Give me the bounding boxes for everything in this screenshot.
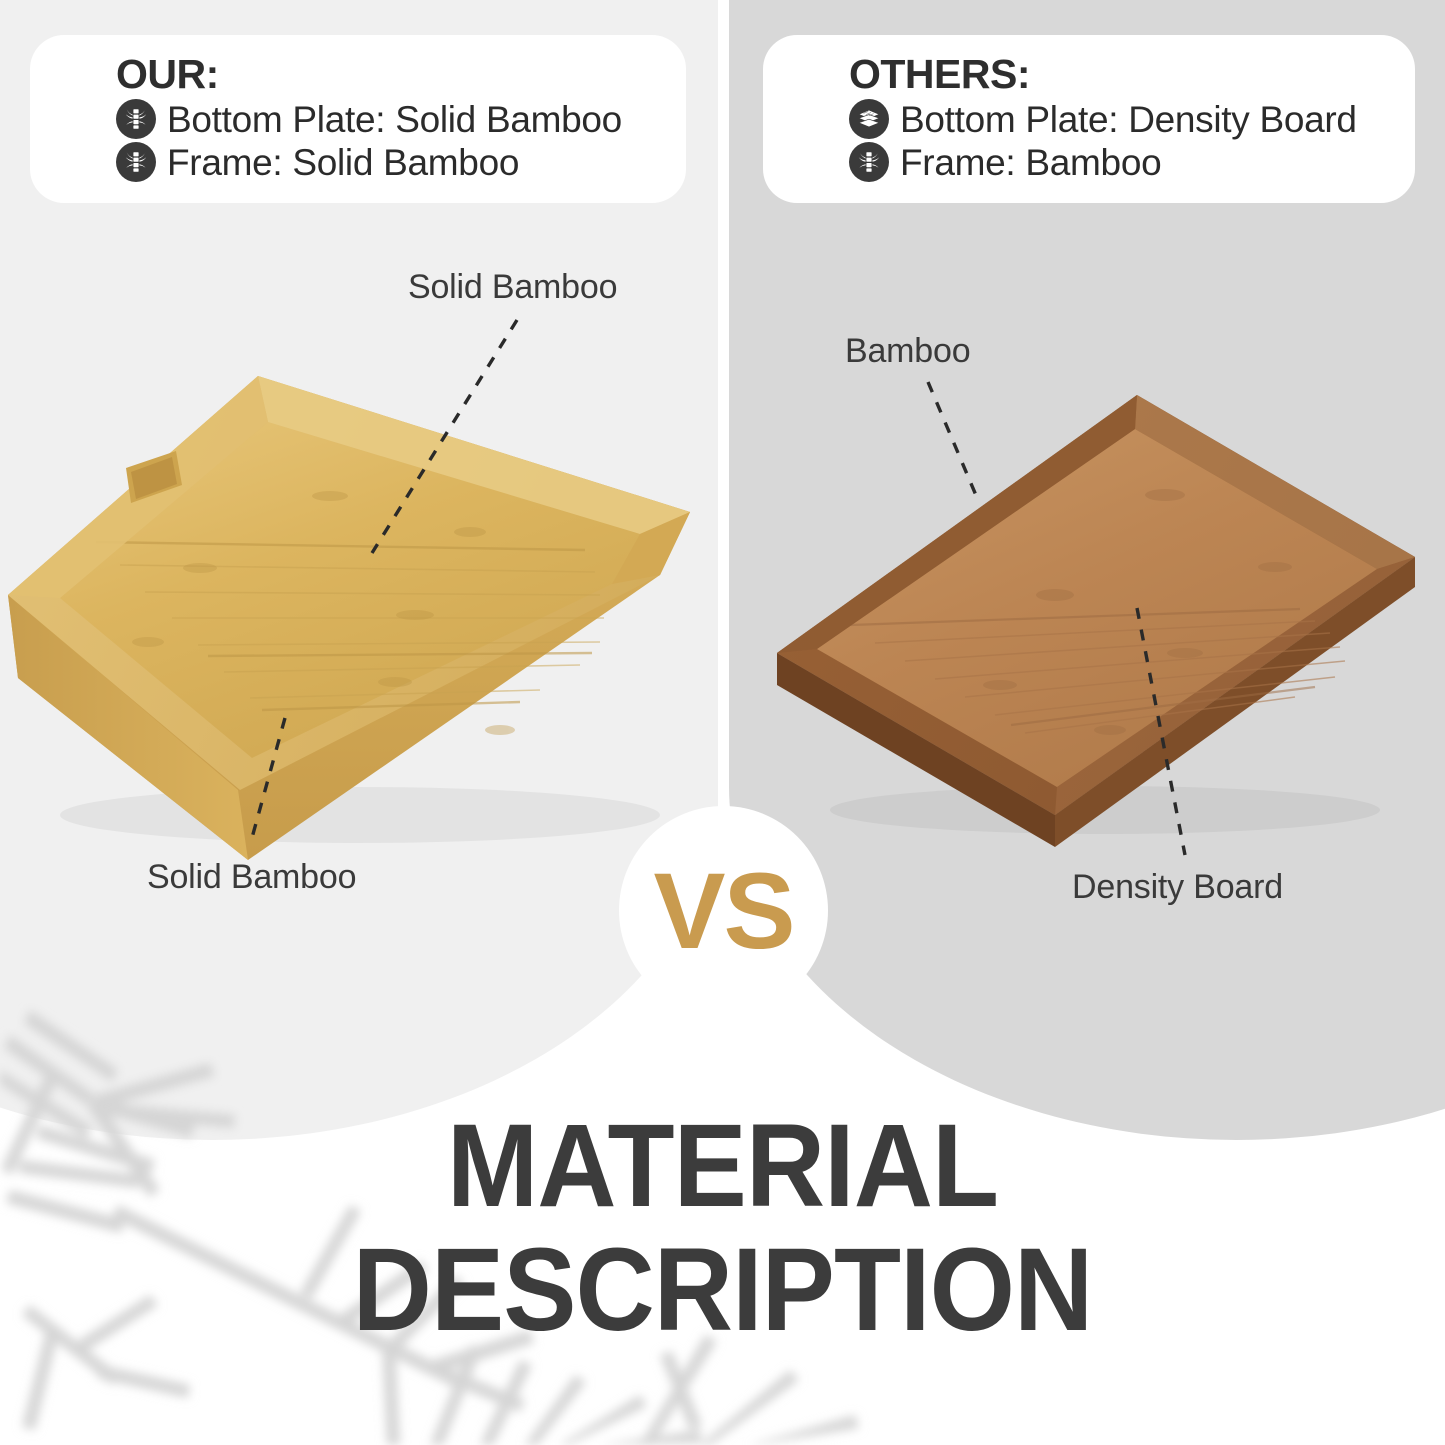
spec-card-ours: OUR: — [30, 35, 686, 203]
spec-row-others-bottom-plate: Bottom Plate: Density Board — [849, 99, 1385, 139]
spec-row-ours-bottom-plate-label: Bottom Plate: Solid Bamboo — [167, 101, 622, 138]
bamboo-icon — [849, 142, 889, 182]
page-title: MATERIAL DESCRIPTION — [0, 1105, 1445, 1353]
spec-card-ours-heading: OUR: — [116, 53, 656, 96]
callout-others-frame: Bamboo — [845, 332, 970, 371]
layers-stack-icon — [849, 99, 889, 139]
spec-row-ours-frame-label: Frame: Solid Bamboo — [167, 144, 519, 181]
bamboo-icon — [116, 142, 156, 182]
spec-row-others-bottom-plate-label: Bottom Plate: Density Board — [900, 101, 1357, 138]
spec-row-others-frame: Frame: Bamboo — [849, 142, 1385, 182]
spec-row-ours-bottom-plate: Bottom Plate: Solid Bamboo — [116, 99, 656, 139]
product-image-others-tray — [755, 385, 1435, 855]
infographic-canvas: Solid Bamboo Solid Bamboo Bamboo Density… — [0, 0, 1445, 1445]
spec-card-others: OTHERS: Bottom Plate: Density Boar — [763, 35, 1415, 203]
callout-ours-frame: Solid Bamboo — [147, 858, 356, 897]
vs-label: VS — [653, 857, 793, 965]
callout-ours-surface: Solid Bamboo — [408, 268, 617, 307]
spec-card-others-heading: OTHERS: — [849, 53, 1385, 96]
page-title-line-1: MATERIAL — [51, 1105, 1395, 1229]
product-image-ours-tray — [0, 360, 700, 860]
spec-row-ours-frame: Frame: Solid Bamboo — [116, 142, 656, 182]
page-title-line-2: DESCRIPTION — [51, 1229, 1395, 1353]
vs-badge: VS — [619, 806, 828, 1015]
spec-row-others-frame-label: Frame: Bamboo — [900, 144, 1161, 181]
bamboo-icon — [116, 99, 156, 139]
callout-others-plate: Density Board — [1072, 868, 1283, 907]
